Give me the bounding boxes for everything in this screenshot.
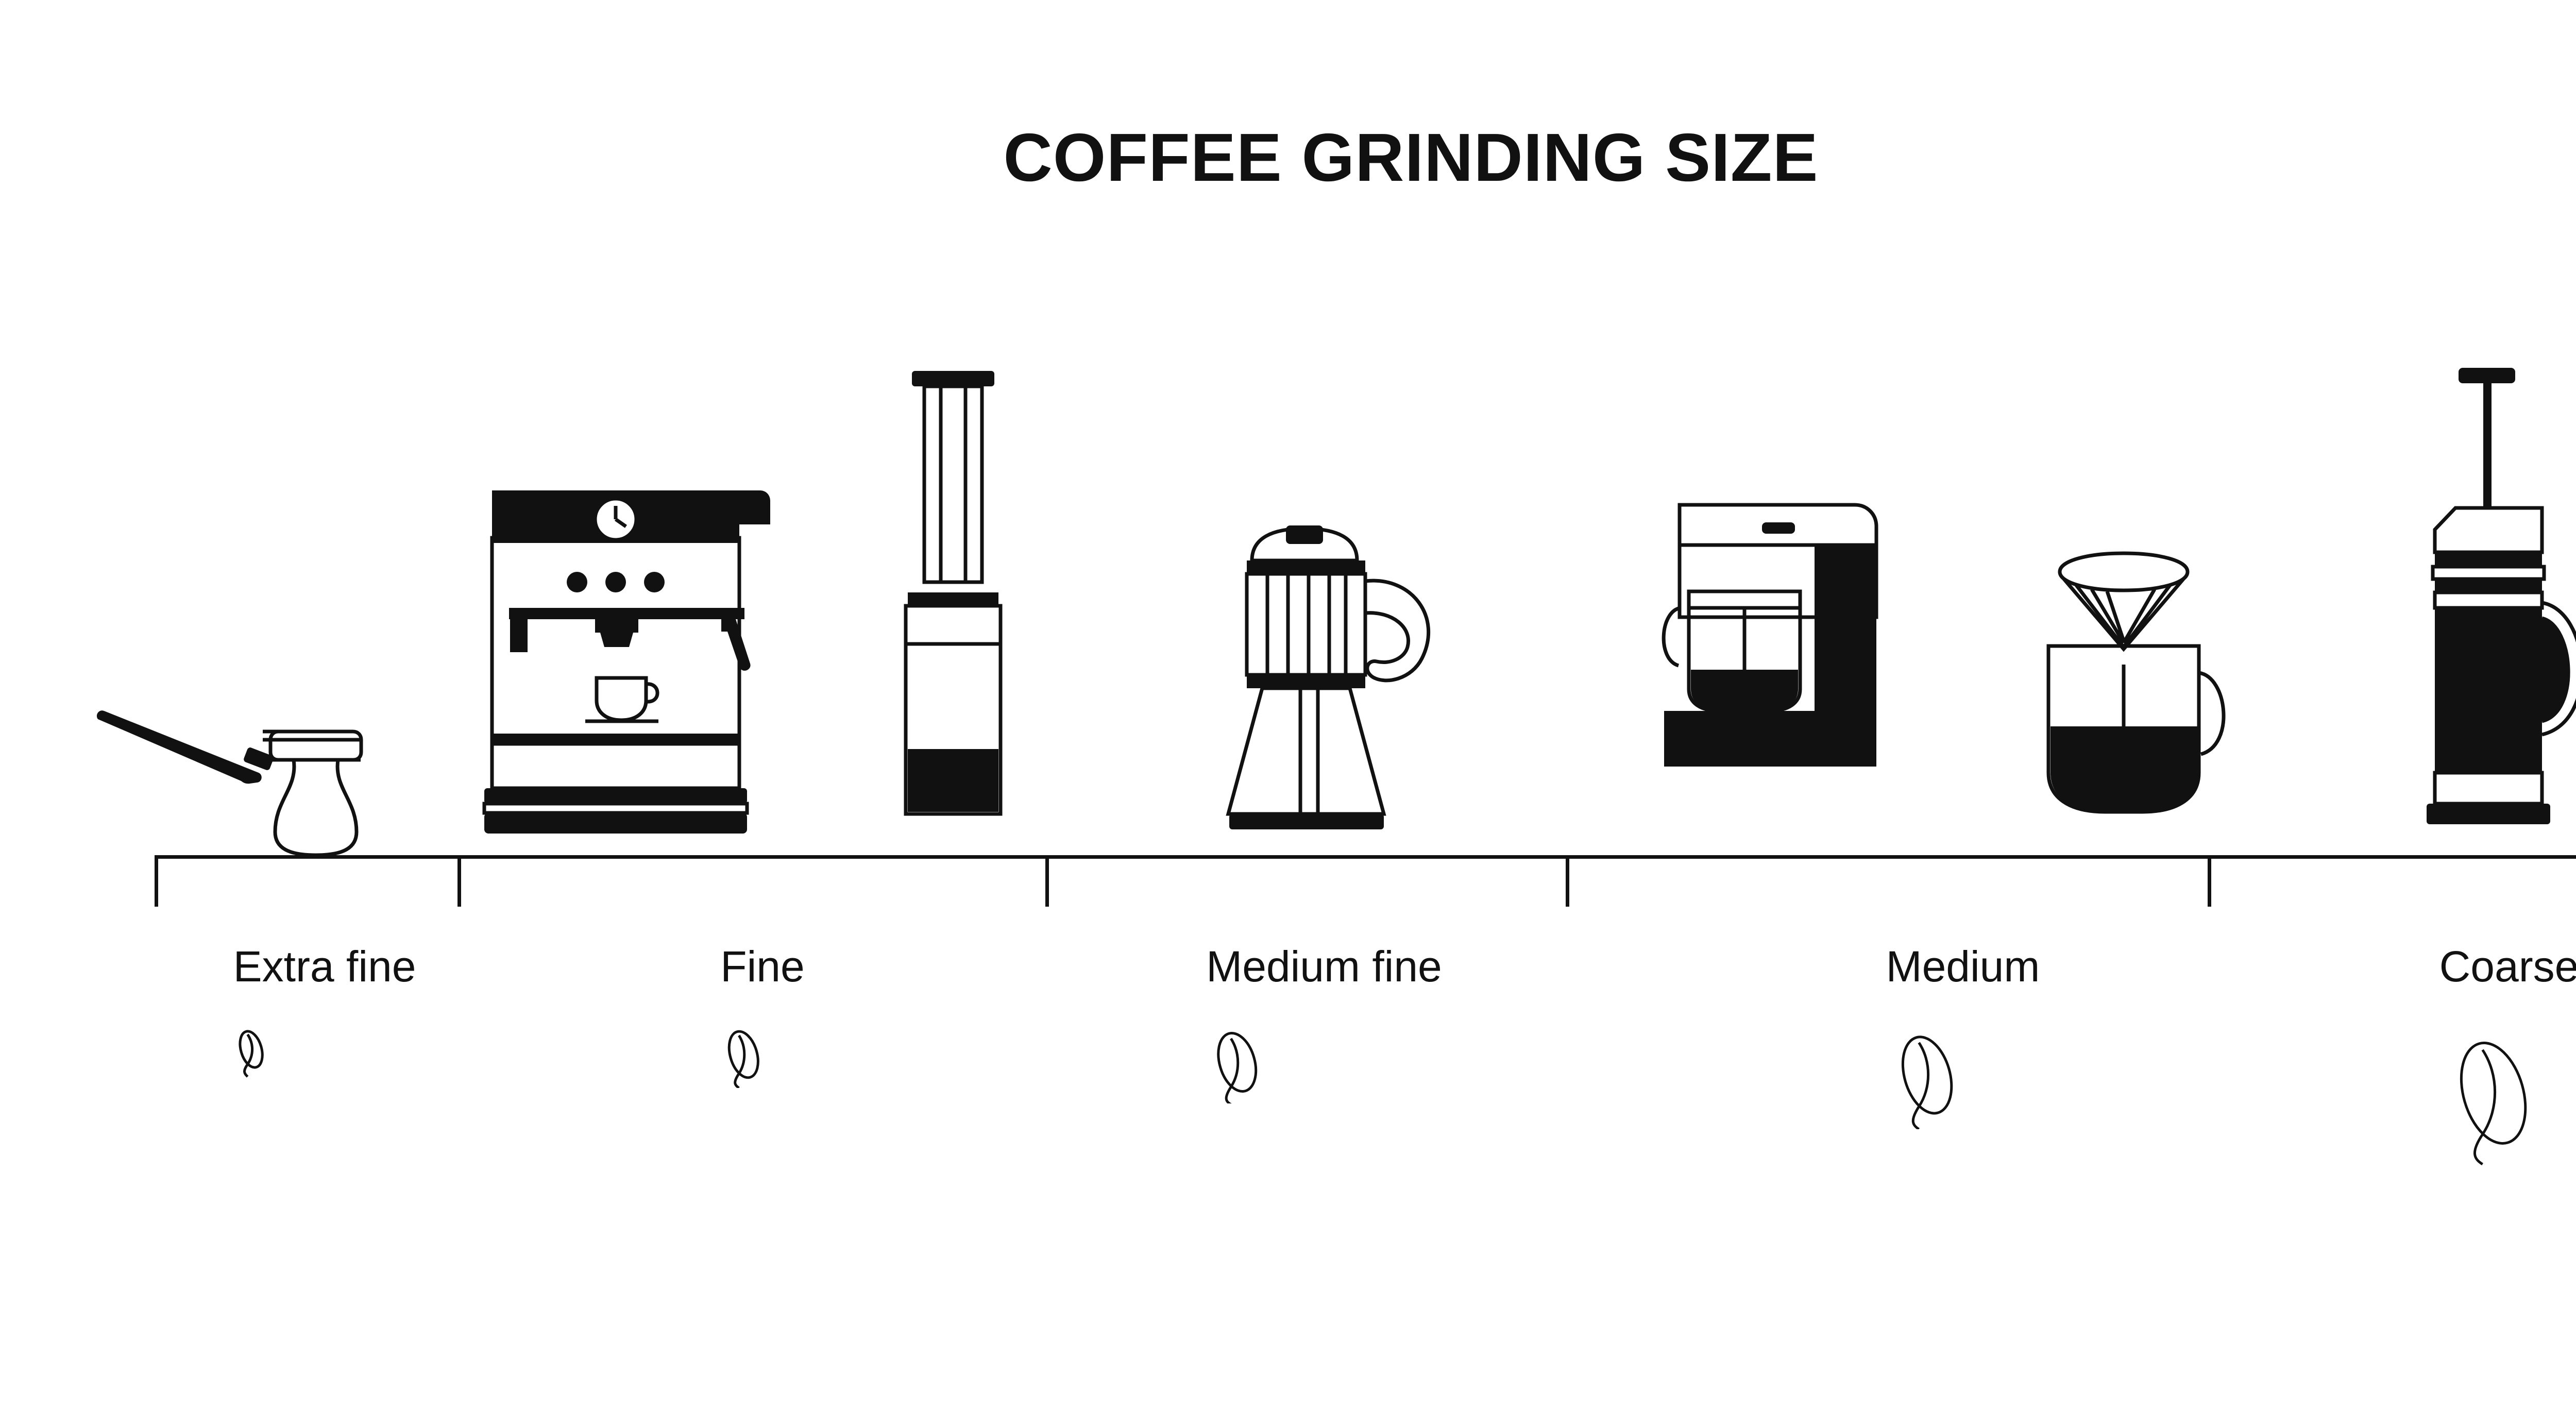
step-coarse: Coarse	[2439, 943, 2576, 1165]
ibrik-cezve-pot	[93, 639, 412, 855]
bean-size-medium-fine	[1206, 1021, 1442, 1103]
step-label: Medium fine	[1206, 943, 1442, 990]
drip-coffee-maker	[1633, 453, 1953, 855]
grind-size-scale	[155, 855, 2576, 927]
scale-tick-4	[2208, 855, 2211, 907]
espresso-machine	[479, 479, 809, 855]
scale-tick-0	[155, 855, 158, 907]
step-label: Fine	[720, 943, 804, 990]
bean-size-extra-fine	[233, 1021, 416, 1078]
aeropress	[871, 366, 1036, 840]
moka-pot	[1185, 520, 1484, 850]
step-label: Extra fine	[233, 943, 416, 990]
moka-pot-icon	[1185, 520, 1484, 850]
scale-axis-line	[155, 855, 2576, 859]
bean-size-medium	[1886, 1021, 2040, 1129]
pour-over-dripper	[1999, 536, 2277, 855]
device-illustrations	[0, 288, 2576, 855]
espresso-machine-icon	[479, 479, 809, 855]
french-press-icon	[2370, 361, 2576, 855]
page-title: COFFEE GRINDING SIZE	[0, 118, 2576, 196]
bean-size-fine	[720, 1021, 804, 1088]
step-medium: Medium	[1886, 943, 2040, 1129]
pour-over-dripper-icon	[1999, 536, 2277, 855]
step-label: Medium	[1886, 943, 2040, 990]
aeropress-icon	[871, 366, 1036, 840]
step-extra-fine: Extra fine	[233, 943, 416, 1078]
bean-size-coarse	[2439, 1021, 2576, 1165]
coffee-grinding-size-infographic: COFFEE GRINDING SIZE	[0, 0, 2576, 1411]
drip-coffee-maker-icon	[1633, 453, 1953, 855]
french-press	[2370, 361, 2576, 855]
scale-tick-2	[1045, 855, 1049, 907]
scale-tick-3	[1566, 855, 1569, 907]
turkish-coffee-pot-icon	[93, 639, 412, 855]
step-medium-fine: Medium fine	[1206, 943, 1442, 1103]
step-label: Coarse	[2439, 943, 2576, 990]
scale-tick-1	[457, 855, 461, 907]
step-fine: Fine	[720, 943, 804, 1088]
grind-size-labels: Extra fine Fine	[155, 943, 2576, 1303]
